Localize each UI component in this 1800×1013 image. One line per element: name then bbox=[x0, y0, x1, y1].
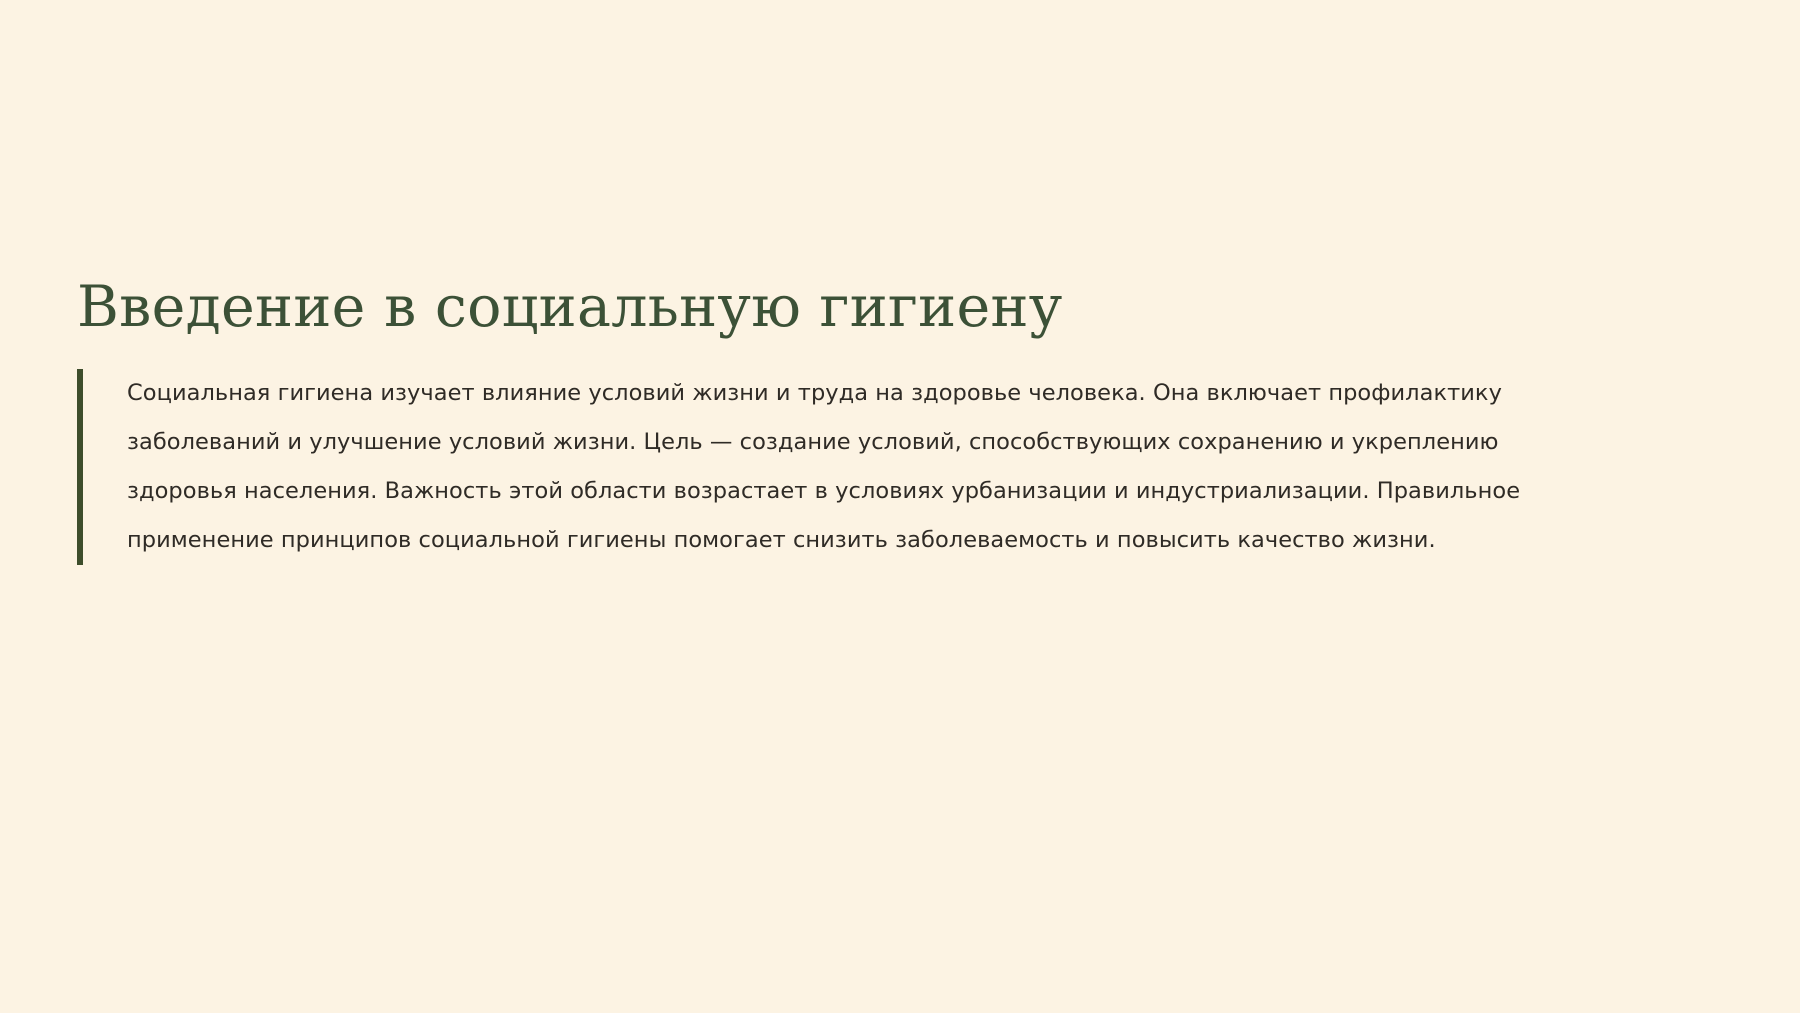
page-title: Введение в социальную гигиену bbox=[77, 275, 1723, 341]
slide-root: Введение в социальную гигиену Социальная… bbox=[0, 0, 1800, 1013]
body-quote-block: Социальная гигиена изучает влияние услов… bbox=[77, 369, 1723, 565]
slide-content: Введение в социальную гигиену Социальная… bbox=[77, 275, 1723, 565]
body-paragraph: Социальная гигиена изучает влияние услов… bbox=[127, 369, 1537, 565]
